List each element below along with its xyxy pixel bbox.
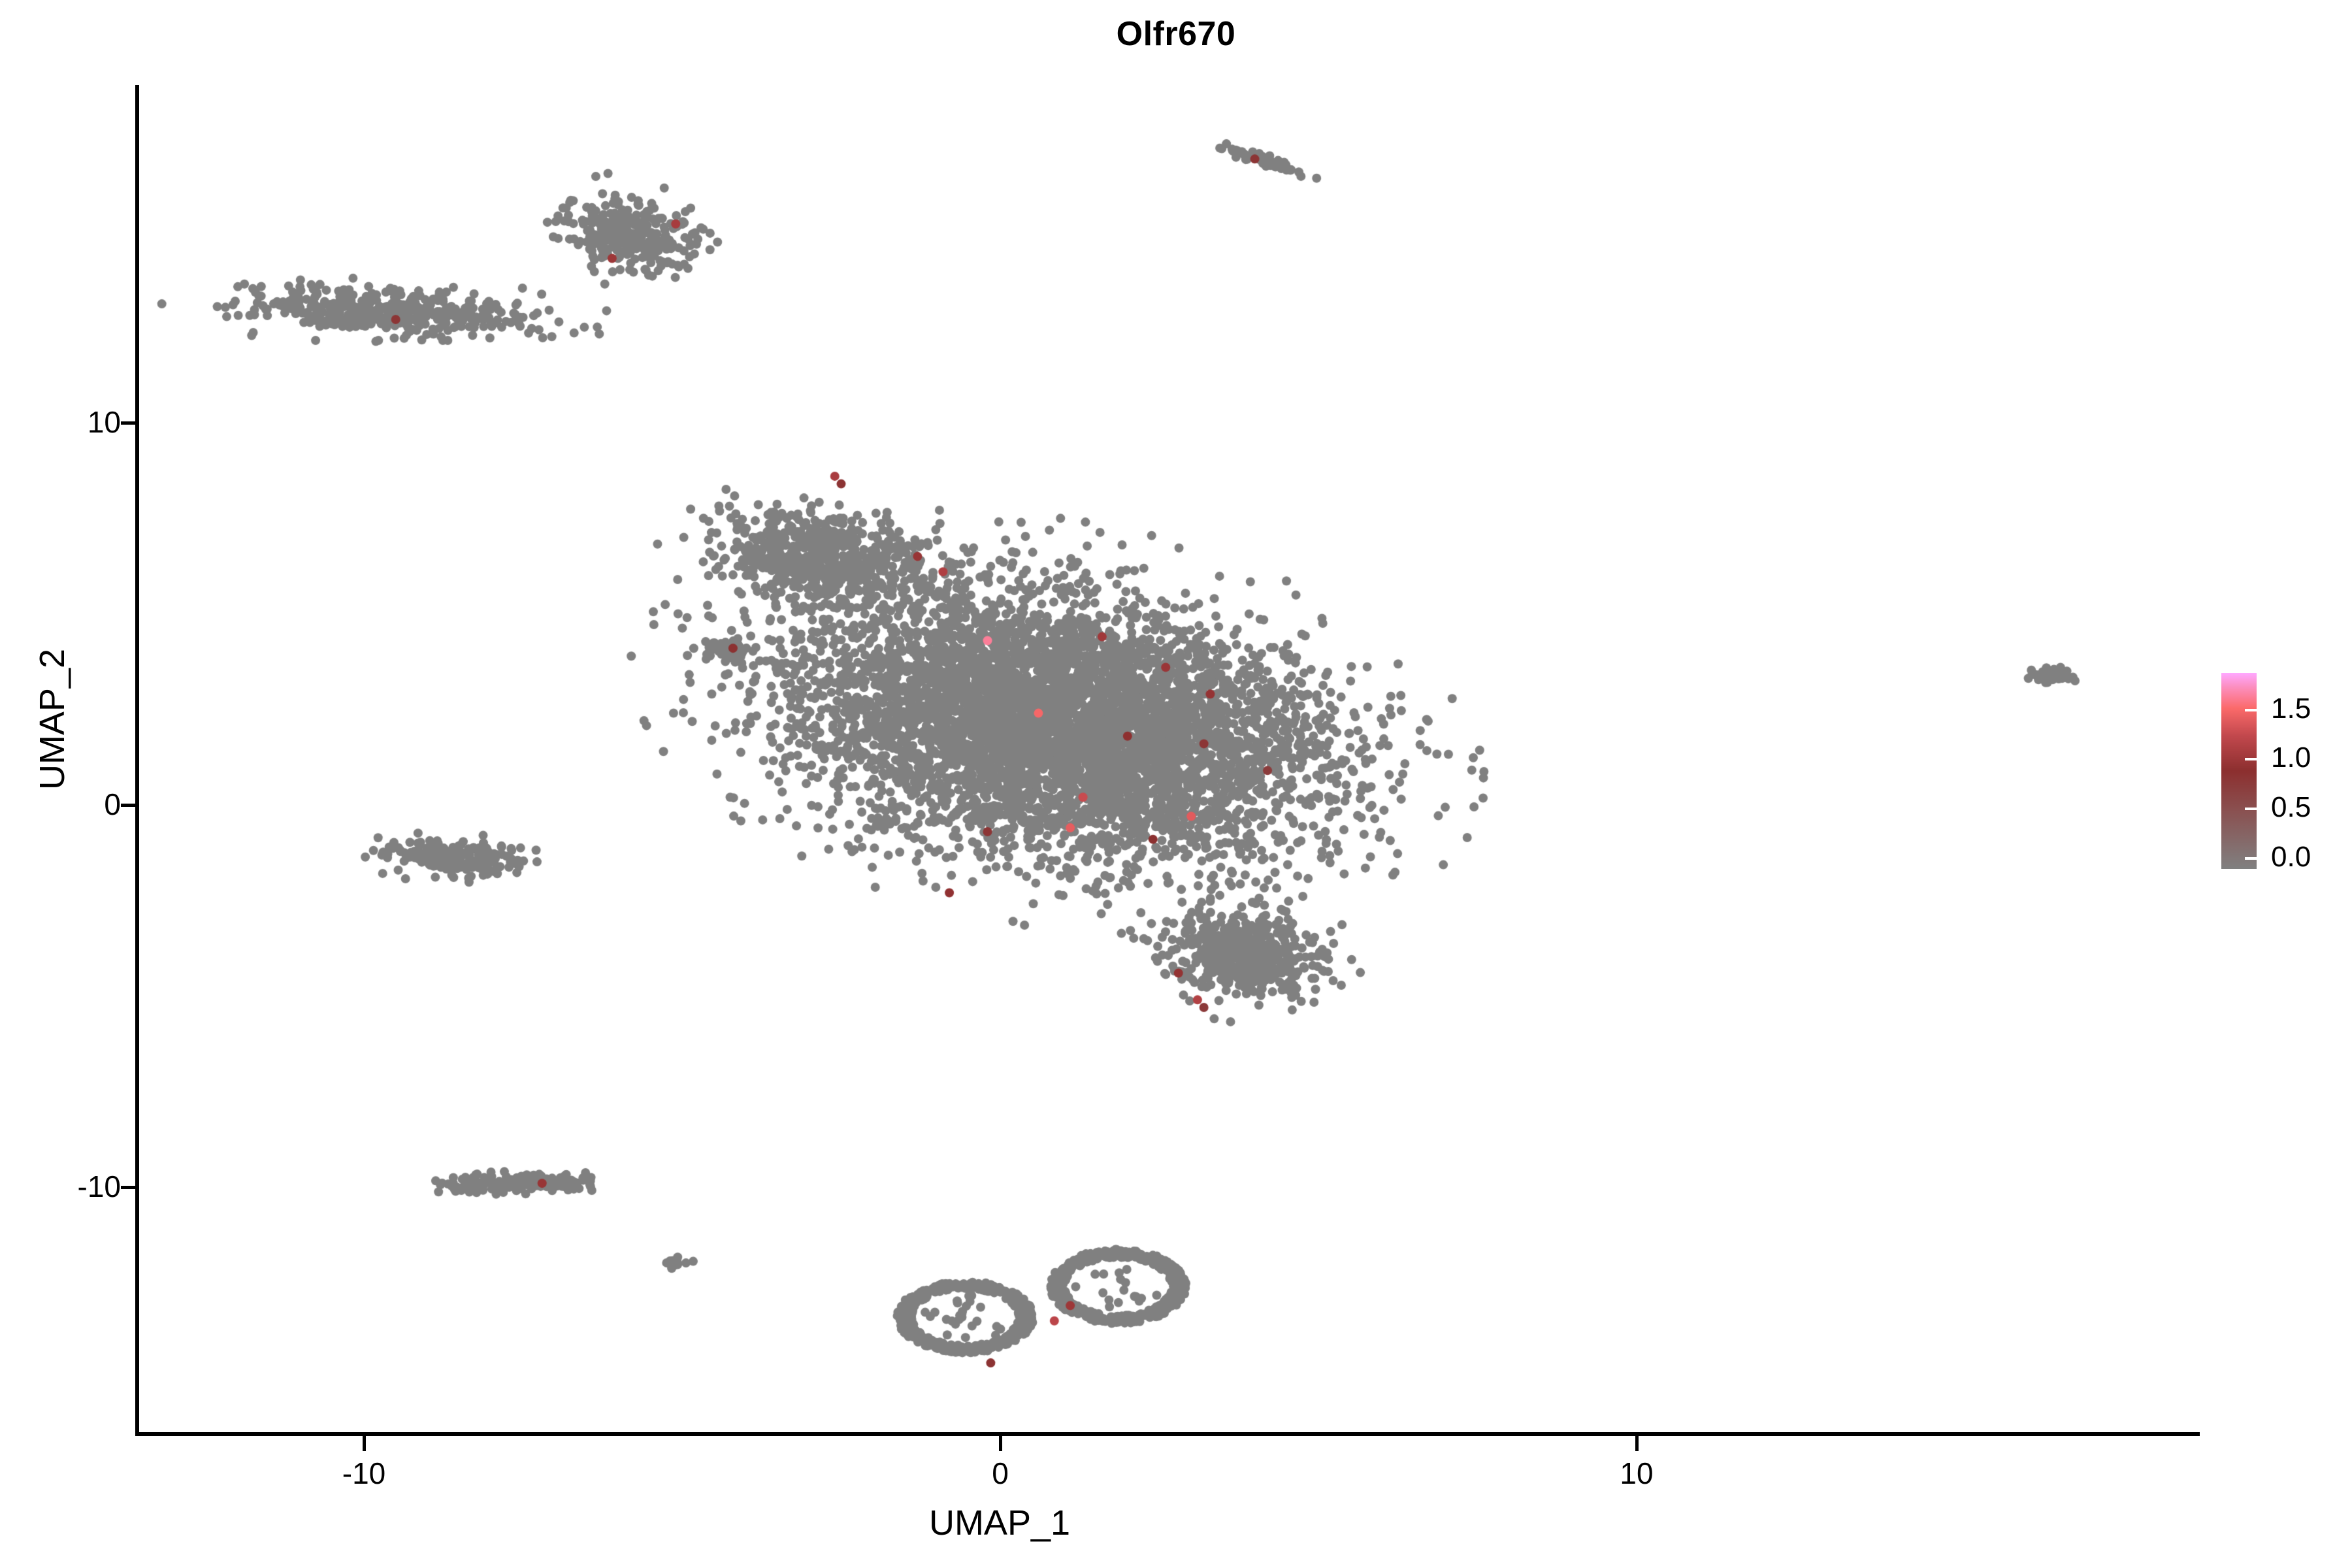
legend-tick-mark bbox=[2245, 709, 2257, 711]
legend-tick-label: 1.5 bbox=[2271, 693, 2311, 725]
page-title: Olfr670 bbox=[0, 14, 2352, 54]
y-tick-label: -10 bbox=[78, 1169, 121, 1204]
legend-tick-mark bbox=[2245, 808, 2257, 810]
legend-tick-label: 1.0 bbox=[2271, 742, 2311, 774]
legend-tick-mark bbox=[2245, 857, 2257, 860]
x-tick-mark bbox=[1635, 1435, 1639, 1451]
x-tick-label: 10 bbox=[1620, 1456, 1653, 1491]
plot-panel bbox=[135, 85, 2200, 1435]
scatter-canvas bbox=[135, 85, 2200, 1435]
y-tick-label: 10 bbox=[88, 404, 121, 440]
umap-feature-plot: Olfr670 -10010 -10010 UMAP_1 UMAP_2 0.00… bbox=[0, 0, 2352, 1568]
x-axis-line bbox=[135, 1432, 2200, 1436]
y-tick-label: 0 bbox=[104, 787, 121, 822]
x-tick-label: 0 bbox=[992, 1456, 1009, 1491]
x-tick-mark bbox=[363, 1435, 366, 1451]
x-tick-mark bbox=[999, 1435, 1002, 1451]
legend-tick-label: 0.0 bbox=[2271, 841, 2311, 874]
legend-tick-label: 0.5 bbox=[2271, 791, 2311, 824]
x-tick-label: -10 bbox=[342, 1456, 385, 1491]
legend-colorbar: 0.00.51.01.5 bbox=[2221, 673, 2339, 869]
legend-tick-mark bbox=[2245, 758, 2257, 760]
y-tick-mark bbox=[121, 1186, 135, 1189]
x-axis-title: UMAP_1 bbox=[849, 1503, 1150, 1543]
y-axis-title: UMAP_2 bbox=[32, 569, 73, 870]
y-tick-mark bbox=[121, 421, 135, 425]
y-tick-mark bbox=[121, 804, 135, 807]
y-axis-line bbox=[135, 85, 139, 1435]
legend-gradient-bar bbox=[2221, 673, 2257, 869]
